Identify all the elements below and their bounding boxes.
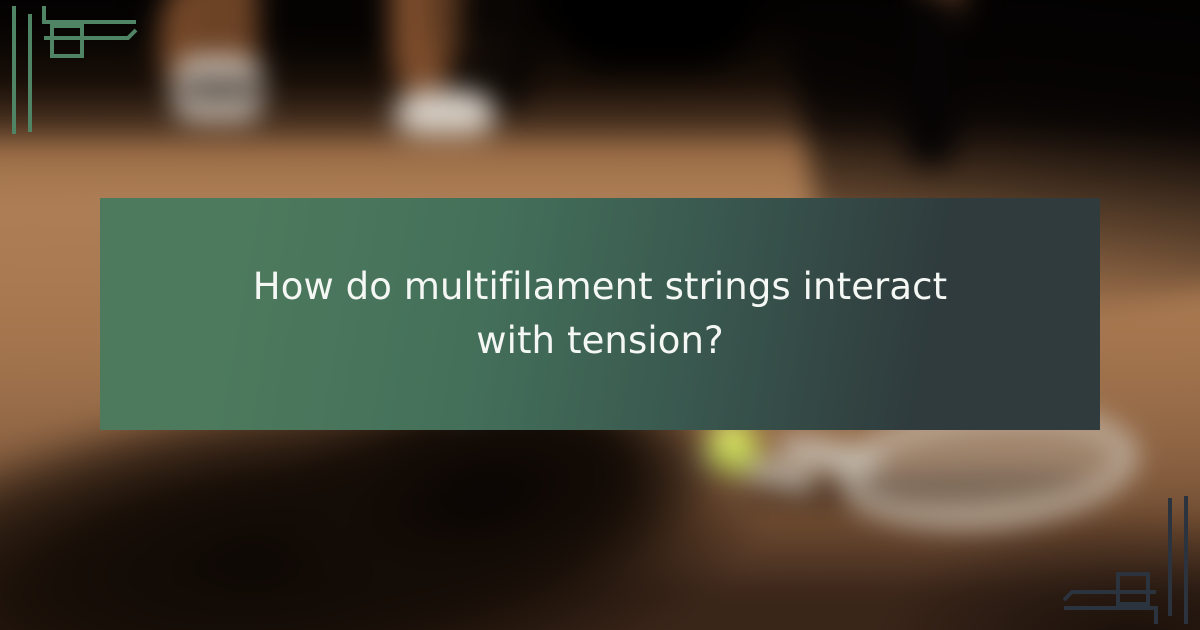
headline-banner: How do multifilament strings interact wi… [100,198,1100,430]
share-card: How do multifilament strings interact wi… [0,0,1200,630]
player-knee-brace [465,32,509,98]
background-post [905,0,957,165]
corner-ornament-bottom-right-icon [1040,470,1200,630]
player-arm-silhouette [560,0,750,70]
player-left-shoe-band [182,76,258,102]
player-right-shoe [396,90,494,134]
headline-text: How do multifilament strings interact wi… [220,260,980,368]
corner-ornament-top-left-icon [0,0,160,160]
